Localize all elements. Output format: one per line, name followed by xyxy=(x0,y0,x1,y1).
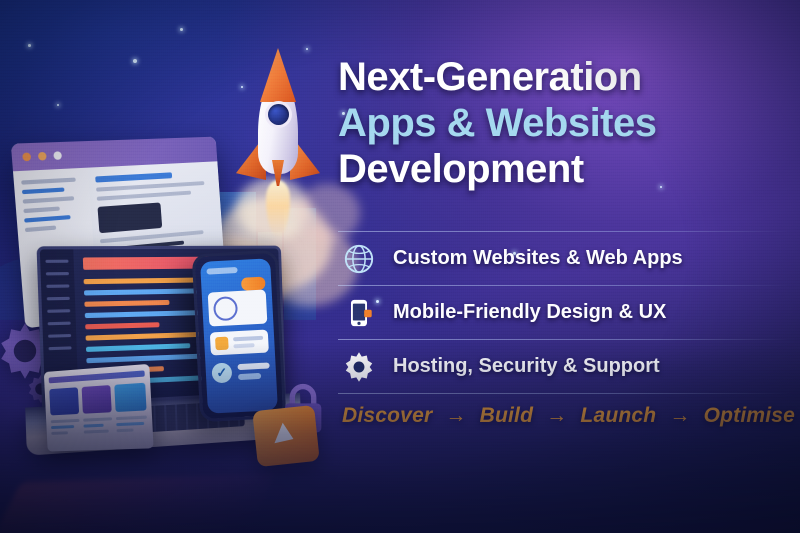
headline-block: Next-Generation Apps & Websites Developm… xyxy=(338,54,778,192)
phone-screen: ✓ xyxy=(200,258,278,413)
feature-row-mobile[interactable]: Mobile-Friendly Design & UX xyxy=(338,286,790,339)
feature-label: Hosting, Security & Support xyxy=(393,355,660,378)
window-dot-3 xyxy=(53,151,62,160)
gear-icon xyxy=(342,350,376,384)
headline-line-3: Development xyxy=(338,146,778,192)
phone-check-icon: ✓ xyxy=(211,362,232,383)
window-dot-1 xyxy=(22,153,31,162)
headline-line-1: Next-Generation xyxy=(338,54,778,100)
phone-cta-pill xyxy=(241,277,266,291)
rocket-nose-cone xyxy=(260,48,296,102)
process-step-2: Build xyxy=(480,404,534,427)
feature-label: Custom Websites & Web Apps xyxy=(393,247,683,270)
feature-list: Custom Websites & Web Apps Mobile-Friend… xyxy=(338,231,790,394)
mobile-icon xyxy=(342,296,376,330)
device-illustration: ✓ xyxy=(0,120,340,533)
headline-line-2: Apps & Websites xyxy=(338,100,778,146)
process-arrow-1: → xyxy=(445,404,466,427)
window-dot-2 xyxy=(38,152,47,161)
cursor-arrow-icon xyxy=(274,423,297,449)
cursor-card xyxy=(252,405,320,467)
smartphone-mockup: ✓ xyxy=(192,250,287,422)
feature-row-websites[interactable]: Custom Websites & Web Apps xyxy=(338,232,790,285)
process-step-3: Launch xyxy=(580,404,656,427)
process-arrow-3: → xyxy=(669,404,690,427)
tablet-card-mockup xyxy=(44,364,154,452)
process-step-1: Discover xyxy=(342,404,432,427)
process-steps: Discover → Build → Launch → Optimise xyxy=(342,404,795,428)
process-step-4: Optimise xyxy=(704,404,795,427)
feature-row-hosting[interactable]: Hosting, Security & Support xyxy=(338,340,790,393)
content-panel: Next-Generation Apps & Websites Developm… xyxy=(336,0,800,533)
process-arrow-2: → xyxy=(546,404,567,427)
feature-label: Mobile-Friendly Design & UX xyxy=(393,301,666,324)
globe-icon xyxy=(342,242,376,276)
feature-divider-bottom xyxy=(338,393,790,394)
promo-banner: ✓ Next-Generation Apps & Websites Develo… xyxy=(0,0,800,533)
desk-surface xyxy=(0,474,275,533)
